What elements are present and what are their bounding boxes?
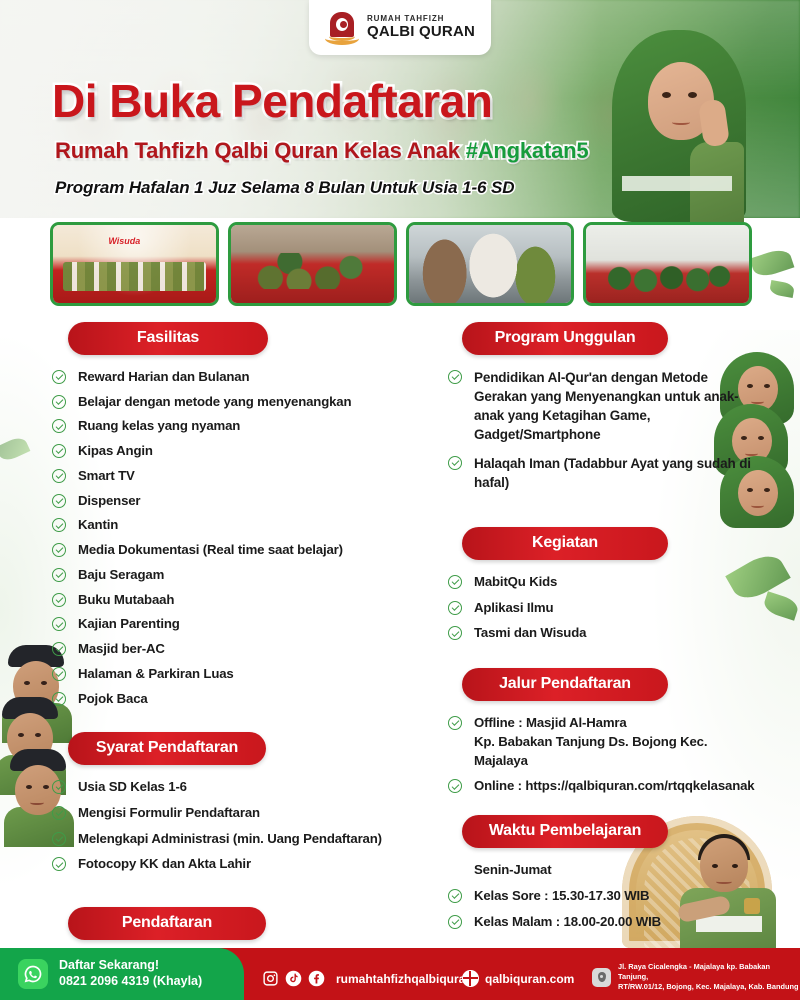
- list-item-label: Fotocopy KK dan Akta Lahir: [78, 856, 251, 871]
- check-circle-icon: [52, 642, 66, 656]
- whatsapp-icon[interactable]: [18, 959, 48, 989]
- left-column: Fasilitas Reward Harian dan Bulanan Bela…: [52, 322, 412, 1000]
- list-item-label: Tasmi dan Wisuda: [474, 625, 586, 640]
- check-circle-icon: [52, 395, 66, 409]
- list-item-label: Smart TV: [78, 468, 135, 483]
- hero-girl-photo: [604, 26, 754, 222]
- photo-thumbnail: [406, 222, 575, 306]
- whatsapp-cta[interactable]: Daftar Sekarang! 0821 2096 4319 (Khayla): [0, 948, 244, 1000]
- list-item: Offline : Masjid Al-Hamra Kp. Babakan Ta…: [448, 714, 758, 770]
- list-item-label: Pojok Baca: [78, 691, 148, 706]
- list-item: Dispenser: [52, 492, 412, 511]
- page-title: Di Buka Pendaftaran: [52, 74, 492, 128]
- mosque-dome-icon: [325, 10, 359, 46]
- logo-line-2: QALBI QURAN: [367, 24, 475, 40]
- list-syarat-pendaftaran: Usia SD Kelas 1-6 Mengisi Formulir Penda…: [52, 778, 412, 874]
- section-heading-jalur-pendaftaran: Jalur Pendaftaran: [462, 668, 668, 701]
- check-circle-icon: [448, 889, 462, 903]
- list-item-label: Masjid ber-AC: [78, 641, 165, 656]
- leaf-decoration-icon: [769, 280, 795, 298]
- list-item-label: Kajian Parenting: [78, 616, 180, 631]
- check-circle-icon: [52, 444, 66, 458]
- list-item: Kipas Angin: [52, 442, 412, 461]
- list-item-label: Kantin: [78, 517, 118, 532]
- check-circle-icon: [52, 832, 66, 846]
- list-item-label: Halaqah Iman (Tadabbur Ayat yang sudah d…: [474, 456, 751, 490]
- check-circle-icon: [52, 568, 66, 582]
- globe-icon: [462, 970, 479, 987]
- check-circle-icon: [52, 806, 66, 820]
- list-jalur-pendaftaran: Offline : Masjid Al-Hamra Kp. Babakan Ta…: [448, 714, 758, 796]
- check-circle-icon: [448, 779, 462, 793]
- subtitle-main: Rumah Tahfizh Qalbi Quran Kelas Anak: [55, 138, 466, 163]
- list-program-unggulan: Pendidikan Al-Qur'an dengan Metode Gerak…: [448, 368, 758, 492]
- list-item: Melengkapi Administrasi (min. Uang Penda…: [52, 830, 412, 849]
- list-item[interactable]: Online : https://qalbiquran.com/rtqqkela…: [448, 777, 758, 796]
- website-label[interactable]: qalbiquran.com: [485, 972, 574, 986]
- list-item-label: Offline : Masjid Al-Hamra Kp. Babakan Ta…: [474, 715, 707, 767]
- list-fasilitas: Reward Harian dan Bulanan Belajar dengan…: [52, 368, 412, 708]
- list-item-label: Kelas Malam : 18.00-20.00 WIB: [474, 914, 661, 929]
- list-item: Halaman & Parkiran Luas: [52, 665, 412, 684]
- list-item: Mengisi Formulir Pendaftaran: [52, 804, 412, 823]
- list-item: Media Dokumentasi (Real time saat belaja…: [52, 541, 412, 560]
- list-item-label: Reward Harian dan Bulanan: [78, 369, 249, 384]
- address-line-1: Jl. Raya Cicalengka - Majalaya kp. Babak…: [618, 962, 770, 981]
- schedule-days: Senin-Jumat: [448, 861, 758, 880]
- list-item: Reward Harian dan Bulanan: [52, 368, 412, 387]
- photo-thumbnail: [228, 222, 397, 306]
- list-item: Pojok Baca: [52, 690, 412, 709]
- cta-line-1: Daftar Sekarang!: [59, 958, 202, 974]
- check-circle-icon: [52, 692, 66, 706]
- photo-caption: Wisuda: [108, 236, 140, 246]
- check-circle-icon: [52, 543, 66, 557]
- section-heading-fasilitas: Fasilitas: [68, 322, 268, 355]
- check-circle-icon: [52, 593, 66, 607]
- list-item-label: Aplikasi Ilmu: [474, 600, 553, 615]
- list-item-label: Pendidikan Al-Qur'an dengan Metode Gerak…: [474, 370, 739, 442]
- list-item: Baju Seragam: [52, 566, 412, 585]
- section-heading-pendaftaran: Pendaftaran: [68, 907, 266, 940]
- list-item-label: Kipas Angin: [78, 443, 153, 458]
- list-item-label: Usia SD Kelas 1-6: [78, 779, 187, 794]
- list-item-label: Dispenser: [78, 493, 140, 508]
- photo-thumbnail: Wisuda: [50, 222, 219, 306]
- poster-root: RUMAH TAHFIZH QALBI QURAN Di Buka Pendaf…: [0, 0, 800, 1000]
- tiktok-icon[interactable]: [285, 970, 302, 987]
- list-item: MabitQu Kids: [448, 573, 758, 592]
- list-item: Kantin: [52, 516, 412, 535]
- check-circle-icon: [52, 617, 66, 631]
- list-item-label: MabitQu Kids: [474, 574, 557, 589]
- list-item-label: Mengisi Formulir Pendaftaran: [78, 805, 260, 820]
- right-column: Program Unggulan Pendidikan Al-Qur'an de…: [448, 322, 758, 1000]
- website-link[interactable]: qalbiquran.com: [462, 970, 574, 987]
- footer-bar: Daftar Sekarang! 0821 2096 4319 (Khayla)…: [0, 948, 800, 1000]
- check-circle-icon: [448, 456, 462, 470]
- cta-phone-number: 0821 2096 4319 (Khayla): [59, 974, 202, 990]
- tagline: Program Hafalan 1 Juz Selama 8 Bulan Unt…: [55, 178, 514, 198]
- check-circle-icon: [52, 518, 66, 532]
- list-item-label: Melengkapi Administrasi (min. Uang Penda…: [78, 831, 382, 846]
- section-heading-program-unggulan: Program Unggulan: [462, 322, 668, 355]
- list-item-label: Belajar dengan metode yang menyenangkan: [78, 394, 351, 409]
- check-circle-icon: [52, 419, 66, 433]
- check-circle-icon: [52, 469, 66, 483]
- check-circle-icon: [52, 857, 66, 871]
- check-circle-icon: [52, 494, 66, 508]
- social-links[interactable]: rumahtahfizhqalbiquran: [262, 970, 473, 987]
- address-line-2: RT/RW.01/12, Bojong, Kec. Majalaya, Kab.…: [618, 982, 799, 991]
- check-circle-icon: [448, 370, 462, 384]
- check-circle-icon: [448, 626, 462, 640]
- check-circle-icon: [52, 370, 66, 384]
- list-item: Ruang kelas yang nyaman: [52, 417, 412, 436]
- instagram-icon[interactable]: [262, 970, 279, 987]
- list-item: Kelas Sore : 15.30-17.30 WIB: [448, 887, 758, 906]
- social-handle[interactable]: rumahtahfizhqalbiquran: [336, 972, 473, 986]
- list-item-label: Kelas Sore : 15.30-17.30 WIB: [474, 888, 649, 903]
- leaf-decoration-icon: [750, 246, 795, 279]
- check-circle-icon: [448, 575, 462, 589]
- section-heading-syarat-pendaftaran: Syarat Pendaftaran: [68, 732, 266, 765]
- list-item: Kelas Malam : 18.00-20.00 WIB: [448, 913, 758, 932]
- list-item-label: Ruang kelas yang nyaman: [78, 418, 240, 433]
- list-item: Masjid ber-AC: [52, 640, 412, 659]
- registration-url-label[interactable]: Online : https://qalbiquran.com/rtqqkela…: [474, 778, 755, 793]
- check-circle-icon: [448, 716, 462, 730]
- list-item-label: Halaman & Parkiran Luas: [78, 666, 234, 681]
- list-item-label: Baju Seragam: [78, 567, 164, 582]
- list-item-label: Media Dokumentasi (Real time saat belaja…: [78, 542, 343, 557]
- check-circle-icon: [52, 667, 66, 681]
- list-waktu-pembelajaran: Senin-Jumat Kelas Sore : 15.30-17.30 WIB…: [448, 861, 758, 931]
- check-circle-icon: [52, 780, 66, 794]
- list-item: Aplikasi Ilmu: [448, 599, 758, 618]
- brand-logo: RUMAH TAHFIZH QALBI QURAN: [309, 0, 491, 55]
- list-item: Tasmi dan Wisuda: [448, 624, 758, 643]
- section-heading-kegiatan: Kegiatan: [462, 527, 668, 560]
- list-item: Smart TV: [52, 467, 412, 486]
- check-circle-icon: [448, 915, 462, 929]
- list-item: Pendidikan Al-Qur'an dengan Metode Gerak…: [448, 368, 758, 445]
- section-heading-waktu-pembelajaran: Waktu Pembelajaran: [462, 815, 668, 848]
- photo-thumbnail: [583, 222, 752, 306]
- check-circle-icon: [448, 601, 462, 615]
- location-pin-icon: [592, 968, 611, 987]
- address-block: Jl. Raya Cicalengka - Majalaya kp. Babak…: [592, 962, 800, 992]
- photo-strip: Wisuda: [50, 222, 752, 306]
- list-item: Belajar dengan metode yang menyenangkan: [52, 393, 412, 412]
- subtitle-hashtag: #Angkatan5: [466, 138, 589, 163]
- list-item: Buku Mutabaah: [52, 591, 412, 610]
- subtitle: Rumah Tahfizh Qalbi Quran Kelas Anak #An…: [55, 138, 588, 164]
- schedule-days-label: Senin-Jumat: [474, 862, 552, 877]
- list-item: Kajian Parenting: [52, 615, 412, 634]
- list-kegiatan: MabitQu Kids Aplikasi Ilmu Tasmi dan Wis…: [448, 573, 758, 643]
- list-item-label: Buku Mutabaah: [78, 592, 174, 607]
- list-item: Fotocopy KK dan Akta Lahir: [52, 855, 412, 874]
- facebook-icon[interactable]: [308, 970, 325, 987]
- list-item: Halaqah Iman (Tadabbur Ayat yang sudah d…: [448, 454, 758, 492]
- list-item: Usia SD Kelas 1-6: [52, 778, 412, 797]
